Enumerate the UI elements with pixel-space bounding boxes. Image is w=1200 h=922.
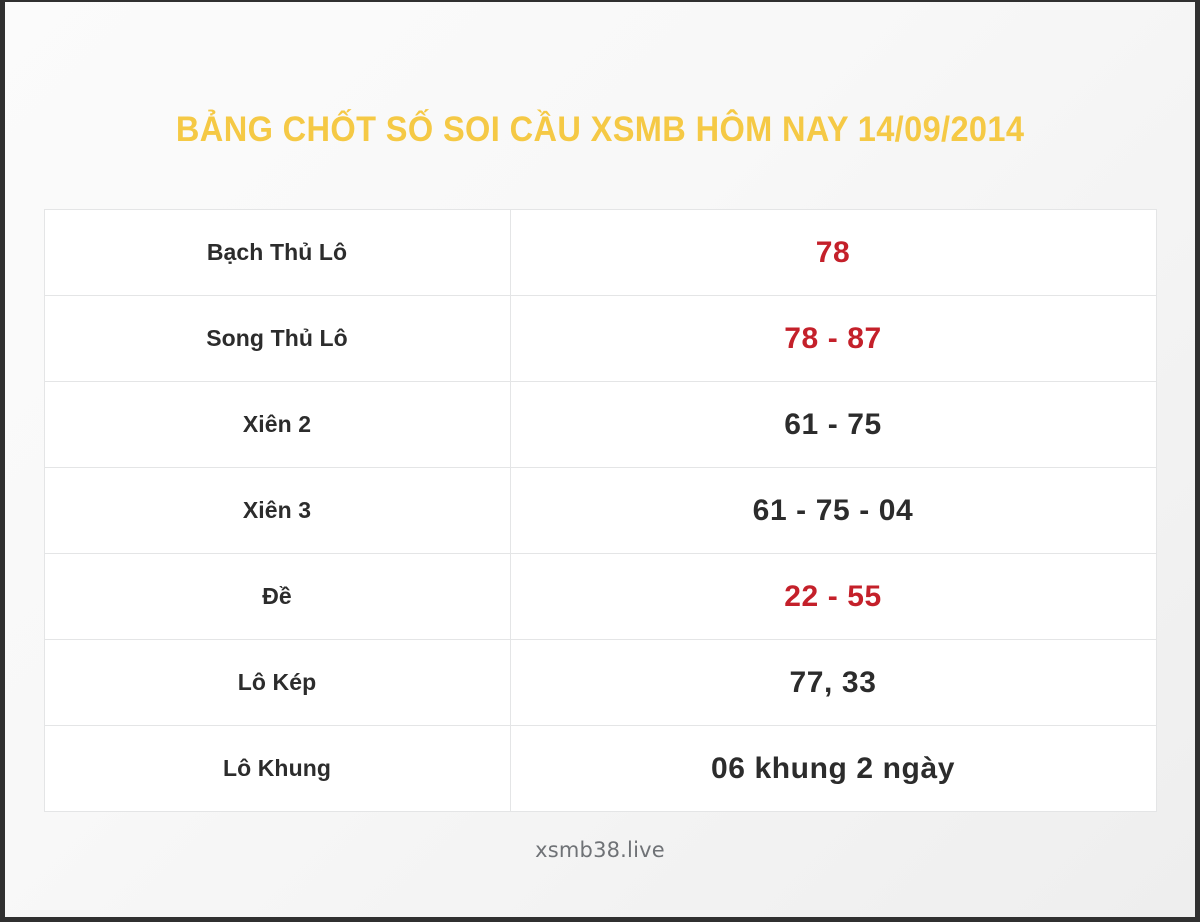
prediction-value-cell: 61 - 75: [510, 382, 1156, 468]
page-title: BẢNG CHỐT SỐ SOI CẦU XSMB HÔM NAY 14/09/…: [176, 111, 1024, 150]
table-row: Lô Kép77, 33: [44, 640, 1156, 726]
prediction-label-cell: Xiên 3: [44, 468, 510, 554]
page-container: BẢNG CHỐT SỐ SOI CẦU XSMB HÔM NAY 14/09/…: [0, 0, 1200, 922]
title-bar: BẢNG CHỐT SỐ SOI CẦU XSMB HÔM NAY 14/09/…: [5, 2, 1195, 173]
table-row: Song Thủ Lô78 - 87: [44, 296, 1156, 382]
table-row: Bạch Thủ Lô78: [44, 210, 1156, 296]
prediction-value-cell: 78: [510, 210, 1156, 296]
prediction-label-cell: Xiên 2: [44, 382, 510, 468]
prediction-value-cell: 61 - 75 - 04: [510, 468, 1156, 554]
footer: xsmb38.live: [5, 838, 1195, 862]
predictions-table: Bạch Thủ Lô78Song Thủ Lô78 - 87Xiên 261 …: [44, 209, 1157, 812]
table-row: Đề22 - 55: [44, 554, 1156, 640]
prediction-label-cell: Đề: [44, 554, 510, 640]
prediction-value-cell: 77, 33: [510, 640, 1156, 726]
prediction-label-cell: Song Thủ Lô: [44, 296, 510, 382]
table-row: Lô Khung06 khung 2 ngày: [44, 726, 1156, 812]
site-name-label: xsmb38.live: [535, 838, 665, 862]
prediction-label-cell: Bạch Thủ Lô: [44, 210, 510, 296]
prediction-value-cell: 06 khung 2 ngày: [510, 726, 1156, 812]
prediction-label-cell: Lô Kép: [44, 640, 510, 726]
table-row: Xiên 361 - 75 - 04: [44, 468, 1156, 554]
prediction-value-cell: 78 - 87: [510, 296, 1156, 382]
prediction-label-cell: Lô Khung: [44, 726, 510, 812]
predictions-table-body: Bạch Thủ Lô78Song Thủ Lô78 - 87Xiên 261 …: [44, 210, 1156, 812]
table-row: Xiên 261 - 75: [44, 382, 1156, 468]
prediction-value-cell: 22 - 55: [510, 554, 1156, 640]
